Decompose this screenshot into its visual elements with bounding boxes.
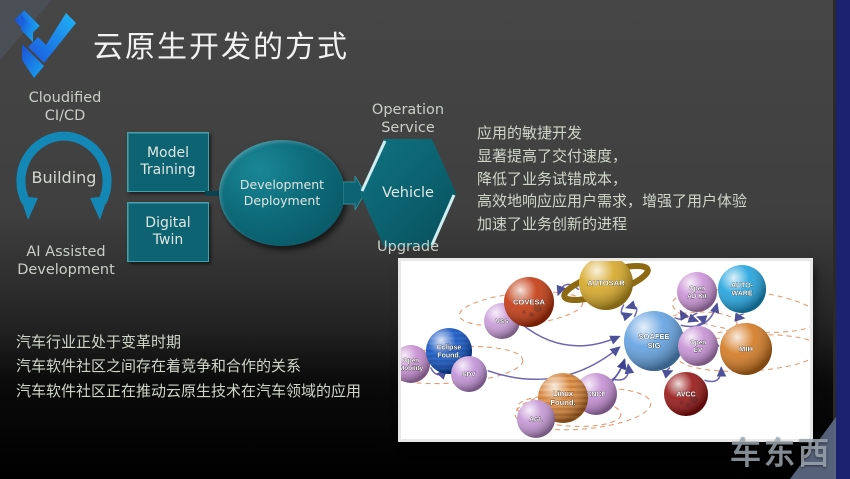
ecosystem-node-label: AGL [529, 416, 543, 423]
ecosystem-node-label: VSS [496, 318, 510, 325]
ecosystem-node-soafee-sig[interactable]: SOAFEESIG [624, 311, 684, 371]
ecosystem-node-label: MIH [739, 345, 753, 354]
development-deployment-ellipse[interactable]: Development Deployment [219, 140, 345, 246]
building-label: Building [12, 168, 116, 187]
ecosystem-node-label: Found. [437, 353, 460, 360]
agile-benefits-paragraph: 应用的敏捷开发 显著提高了交付速度， 降低了业务试错成本， 高效地响应应用户需求… [477, 122, 747, 236]
ecosystem-node-label: AD Kit [687, 293, 707, 300]
ecosystem-node-label: EV [694, 347, 703, 354]
upgrade-label: Upgrade [362, 239, 454, 257]
ecosystem-node-avcc[interactable]: AVCC [664, 372, 708, 416]
ecosystem-node-covesa[interactable]: COVESA [504, 277, 554, 327]
ecosystem-node-autosar[interactable]: AUTOSAR [561, 261, 651, 310]
ecosystem-edge [521, 323, 619, 345]
industry-summary-paragraph: 汽车行业正处于变革时期 汽车软件社区之间存在着竞争和合作的关系 汽车软件社区正在… [16, 330, 361, 403]
logo-checkmark-icon [0, 0, 88, 88]
ecosystem-node-sdv[interactable]: SDV [451, 356, 487, 392]
ecosystem-node-label: SOAFEE [638, 332, 669, 341]
ecosystem-node-autoware[interactable]: AUTO-WARE [718, 265, 766, 313]
ecosystem-node-agl[interactable]: AGL [517, 400, 555, 438]
ecosystem-node-label: AUTO- [731, 282, 754, 289]
watermark: 车东西 [730, 428, 832, 473]
ecosystem-node-label: Linux [553, 389, 574, 398]
ecosystem-edge [666, 368, 672, 373]
ecosystem-node-label: Open [689, 285, 705, 292]
ecosystem-node-label: Mobility [401, 365, 424, 372]
ecosystem-node-label: Found. [550, 398, 575, 407]
edge-accent-stripe [836, 0, 850, 479]
page-title: 云原生开发的方式 [93, 22, 349, 66]
ecosystem-node-label: COVESA [513, 298, 546, 307]
ecosystem-node-open-ad-kit[interactable]: OpenAD Kit [677, 272, 717, 312]
ecosystem-node-open-ev[interactable]: OpenEV [678, 326, 718, 366]
ecosystem-node-label: CNCF [586, 392, 606, 399]
ecosystem-node-label: Open [690, 339, 706, 346]
cloudified-cicd-label: Cloudified CI/CD [10, 90, 120, 125]
ecosystem-node-label: AVCC [676, 392, 695, 399]
model-training-box[interactable]: Model Training [127, 132, 209, 192]
slide-canvas: 云原生开发的方式 Cloudified CI/CD Building AI As… [0, 0, 850, 479]
ecosystem-node-mih[interactable]: MIH [720, 323, 772, 375]
ecosystem-node-label: WARE [732, 291, 753, 298]
ai-assisted-development-label: AI Assisted Development [6, 244, 126, 279]
operation-service-label: Operation Service [362, 102, 454, 137]
ecosystem-node-label: Eclipse [437, 344, 462, 351]
ecosystem-node-label: Open [403, 357, 419, 364]
ecosystem-edge [692, 313, 697, 321]
digital-twin-box[interactable]: Digital Twin [127, 202, 209, 262]
ecosystem-graph: OpenMobilityEclipseFound.SDVVSSCOVESAAUT… [401, 261, 810, 439]
automotive-ecosystem-diagram[interactable]: OpenMobilityEclipseFound.SDVVSSCOVESAAUT… [401, 261, 810, 439]
ecosystem-node-label: SDV [462, 371, 476, 378]
vehicle-hexagon[interactable]: Vehicle [360, 139, 456, 247]
ecosystem-edge [738, 314, 744, 318]
ecosystem-node-label: AUTOSAR [587, 279, 625, 288]
brand-logo [0, 0, 88, 88]
ecosystem-node-label: SIG [647, 341, 660, 350]
